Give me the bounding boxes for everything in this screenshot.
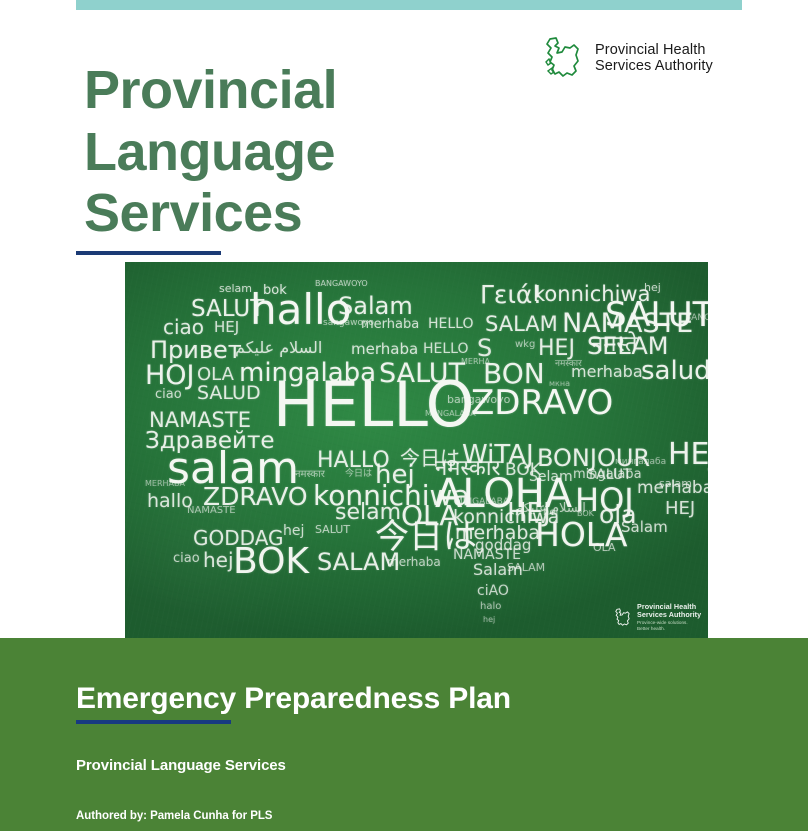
- watermark-tagline-2: Better health.: [637, 626, 701, 631]
- word-cloud-word: Salam: [621, 520, 668, 535]
- word-cloud-word: merhaba: [361, 318, 419, 331]
- bc-province-outline-watermark-icon: [614, 607, 633, 628]
- word-cloud-word: Salam: [473, 562, 523, 578]
- word-cloud-word: HELLO: [428, 317, 474, 331]
- word-cloud-word: MERHABA: [145, 480, 185, 488]
- word-cloud-word: hej: [203, 550, 234, 570]
- word-cloud-word: merhaba: [351, 342, 418, 357]
- word-cloud-word: BOK: [233, 544, 309, 580]
- word-cloud-word: мингалаба: [615, 458, 666, 467]
- word-cloud-word: selam: [219, 283, 252, 294]
- word-cloud-word: HELLO: [273, 374, 474, 436]
- word-cloud-word: hallo: [147, 492, 193, 511]
- watermark-line-2: Services Authority: [637, 611, 701, 619]
- word-cloud-word: السلام عليكم: [235, 340, 322, 356]
- word-cloud-word: SALUT: [315, 524, 350, 535]
- word-cloud-word: HEJ: [668, 440, 708, 470]
- word-cloud-word: Привет: [150, 338, 242, 362]
- word-cloud-word: ciao: [173, 552, 200, 565]
- subject-divider-rule: [76, 720, 231, 724]
- top-accent-bar: [76, 0, 742, 10]
- phsa-logo-line-2: Services Authority: [595, 58, 713, 74]
- phsa-logo: Provincial Health Services Authority: [543, 33, 723, 83]
- page-title-line-2: Language: [84, 122, 504, 184]
- page-title: Provincial Language Services: [84, 60, 504, 245]
- word-cloud-word: goddag: [475, 538, 531, 553]
- bc-province-outline-icon: [543, 35, 587, 81]
- word-cloud-word: 今日は: [345, 470, 372, 479]
- word-cloud-word: ciao: [155, 388, 182, 401]
- word-cloud-word: hej: [483, 616, 495, 624]
- word-cloud-word: merhaba: [387, 556, 441, 568]
- footer-band: [0, 638, 808, 831]
- word-cloud-word: wkg: [515, 340, 535, 350]
- document-subject-title: Emergency Preparedness Plan: [76, 682, 511, 716]
- word-cloud-word: merhaba: [637, 480, 708, 497]
- word-cloud-word: Selam: [529, 470, 573, 484]
- document-cover-page: Provincial Health Services Authority Pro…: [0, 0, 808, 831]
- image-watermark-text: Provincial Health Services Authority Pro…: [637, 603, 701, 631]
- word-cloud-word: HOJ: [145, 362, 195, 389]
- greetings-word-cloud: selambokBANGAWOYOΓειά!konnichiwahejSALUT…: [125, 262, 708, 638]
- image-phsa-watermark: Provincial Health Services Authority Pro…: [614, 603, 701, 631]
- word-cloud-word: Salam: [338, 294, 413, 318]
- word-cloud-word: OLA: [593, 542, 616, 553]
- title-divider-rule: [76, 251, 221, 255]
- multilingual-greetings-chalkboard-image: selambokBANGAWOYOΓειά!konnichiwahejSALUT…: [125, 262, 708, 638]
- word-cloud-word: SALUD: [197, 384, 261, 403]
- word-cloud-word: bangawoyo: [447, 394, 510, 405]
- word-cloud-word: NAMASTE: [187, 506, 236, 516]
- page-title-line-3: Services: [84, 183, 504, 245]
- word-cloud-word: नमस्कार: [555, 360, 582, 369]
- word-cloud-word: salud: [641, 358, 708, 384]
- word-cloud-word: ciao: [163, 317, 204, 337]
- word-cloud-word: BANG: [685, 314, 708, 323]
- word-cloud-word: MENGALABA: [425, 410, 476, 418]
- word-cloud-word: ciAO: [477, 584, 509, 598]
- word-cloud-word: HELLO: [423, 342, 469, 356]
- word-cloud-word: HEJ: [665, 500, 695, 518]
- word-cloud-word: мкна: [549, 380, 570, 388]
- word-cloud-word: HEJ: [214, 320, 239, 335]
- watermark-tagline-1: Province-wide solutions.: [637, 620, 701, 625]
- word-cloud-word: halo: [480, 602, 501, 612]
- word-cloud-word: नमस्ते: [591, 334, 637, 356]
- word-cloud-word: السلام عليكم: [515, 502, 586, 515]
- phsa-logo-line-1: Provincial Health: [595, 42, 713, 58]
- phsa-logo-wordmark: Provincial Health Services Authority: [595, 42, 713, 74]
- document-author: Authored by: Pamela Cunha for PLS: [76, 810, 272, 822]
- document-owner: Provincial Language Services: [76, 757, 286, 774]
- word-cloud-word: SALUT: [587, 468, 632, 482]
- page-title-line-1: Provincial: [84, 60, 504, 122]
- word-cloud-word: SALAM: [485, 314, 558, 335]
- word-cloud-word: hej: [644, 282, 661, 293]
- word-cloud-word: hej: [283, 524, 304, 538]
